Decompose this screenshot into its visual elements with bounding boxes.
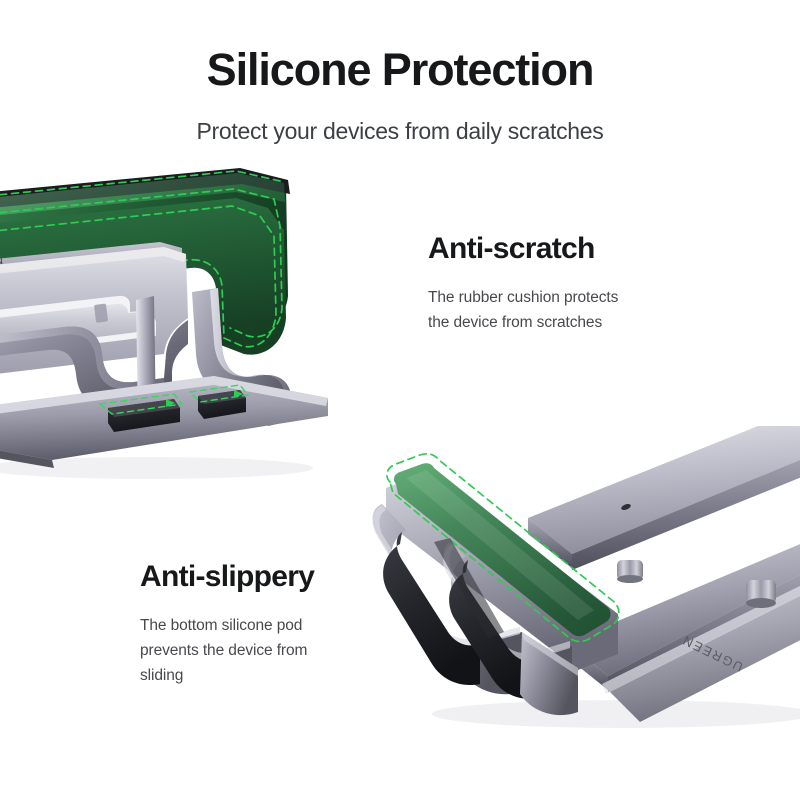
feature-anti-slippery: Anti-slippery The bottom silicone pod pr… [140, 560, 390, 688]
feature-anti-scratch-description: The rubber cushion protects the device f… [428, 285, 688, 335]
feature-anti-slippery-title: Anti-slippery [140, 560, 390, 595]
knurled-screw-far [617, 560, 643, 583]
product-shadow [432, 700, 800, 728]
product-image-stand-underside: UGREEN [372, 392, 800, 752]
marketing-image-canvas: Silicone Protection Protect your devices… [0, 0, 800, 800]
feature-anti-slippery-description: The bottom silicone pod prevents the dev… [140, 613, 390, 688]
vertical-stand-illustration: REEN [0, 168, 408, 488]
page-title: Silicone Protection [0, 47, 800, 92]
feature-anti-scratch: Anti-scratch The rubber cushion protects… [428, 232, 688, 335]
feature-anti-scratch-title: Anti-scratch [428, 232, 688, 267]
knurled-screw-near [746, 580, 776, 608]
page-subtitle: Protect your devices from daily scratche… [0, 120, 800, 143]
stand-underside-illustration: UGREEN [372, 392, 800, 752]
product-image-vertical-stand: REEN [0, 168, 408, 488]
knurled-grip-patch [94, 304, 108, 323]
